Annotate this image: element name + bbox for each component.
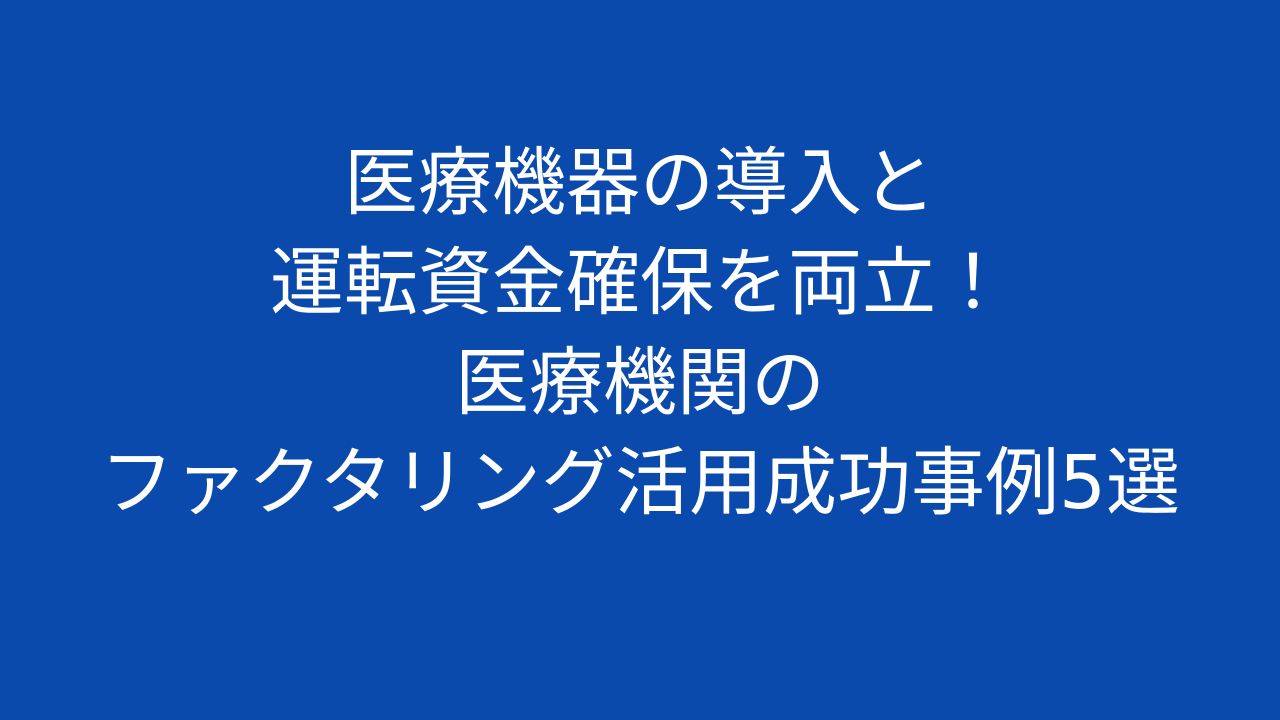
title-text-block: 医療機器の導入と 運転資金確保を両立！ 医療機関の ファクタリング活用成功事例5… [0,133,1280,533]
title-line-4: ファクタリング活用成功事例5選 [0,433,1280,533]
title-line-3: 医療機関の [0,333,1280,433]
title-line-1: 医療機器の導入と [0,133,1280,233]
title-slide: 医療機器の導入と 運転資金確保を両立！ 医療機関の ファクタリング活用成功事例5… [0,0,1280,720]
title-line-2: 運転資金確保を両立！ [0,233,1280,333]
